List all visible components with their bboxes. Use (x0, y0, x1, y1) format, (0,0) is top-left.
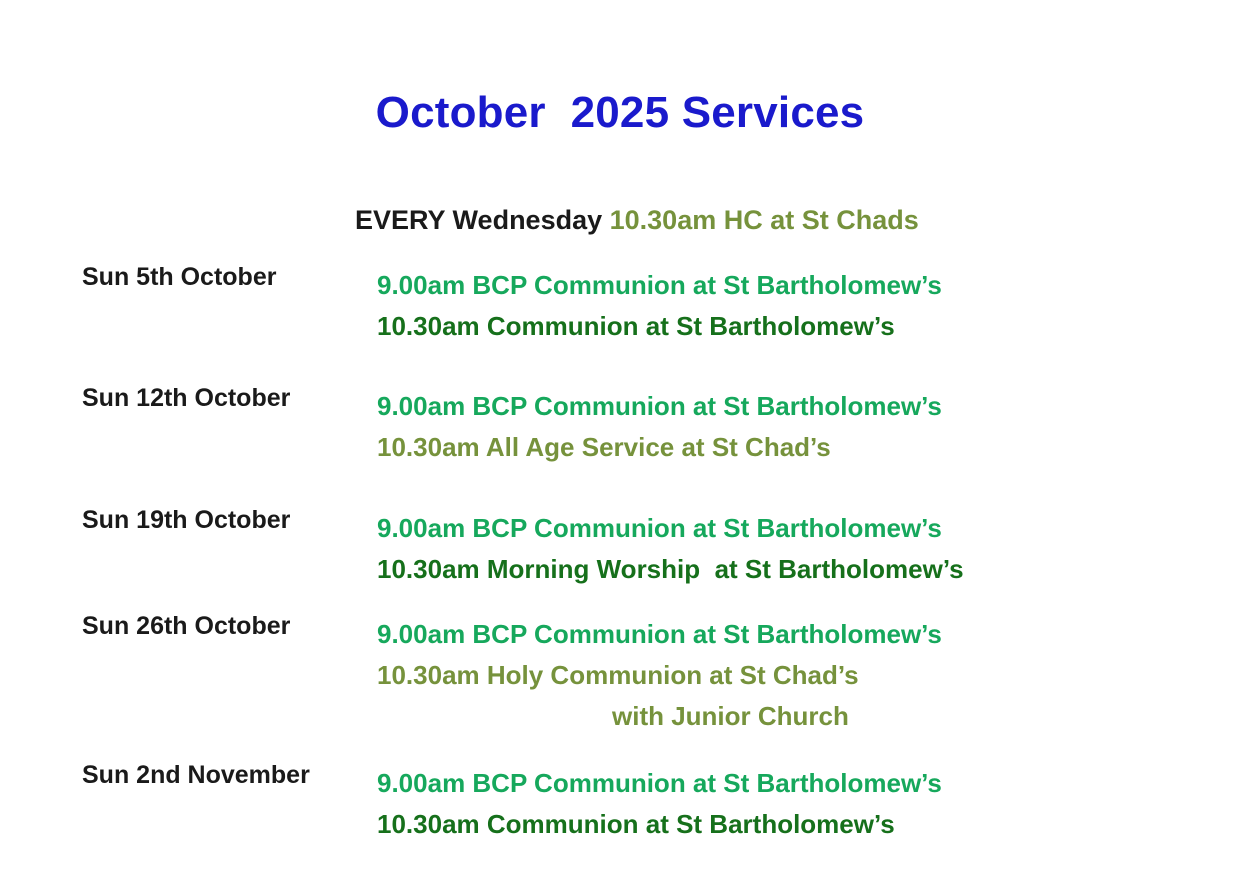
schedule-service-list: 9.00am BCP Communion at St Bartholomew’s… (377, 386, 942, 468)
schedule-service-line: 10.30am Communion at St Bartholomew’s (377, 804, 942, 845)
page-title: October 2025 Services (0, 88, 1240, 139)
schedule-date-label: Sun 26th October (82, 614, 290, 639)
recurring-day-label: EVERY Wednesday (355, 205, 610, 235)
schedule-service-line: 9.00am BCP Communion at St Bartholomew’s (377, 508, 964, 549)
recurring-service-line: EVERY Wednesday 10.30am HC at St Chads (325, 172, 919, 269)
schedule-date-label: Sun 2nd November (82, 763, 310, 788)
schedule-service-line: 9.00am BCP Communion at St Bartholomew’s (377, 614, 942, 655)
schedule-service-line: 10.30am All Age Service at St Chad’s (377, 427, 942, 468)
schedule-service-line: 9.00am BCP Communion at St Bartholomew’s (377, 763, 942, 804)
schedule-service-line: with Junior Church (377, 696, 942, 737)
schedule-service-line: 9.00am BCP Communion at St Bartholomew’s (377, 265, 942, 306)
schedule-date-label: Sun 5th October (82, 265, 276, 290)
schedule-service-list: 9.00am BCP Communion at St Bartholomew’s… (377, 265, 942, 347)
schedule-service-line: 10.30am Holy Communion at St Chad’s (377, 655, 942, 696)
schedule-service-line: 9.00am BCP Communion at St Bartholomew’s (377, 386, 942, 427)
schedule-service-list: 9.00am BCP Communion at St Bartholomew’s… (377, 763, 942, 845)
schedule-date-label: Sun 12th October (82, 386, 290, 411)
schedule-service-list: 9.00am BCP Communion at St Bartholomew’s… (377, 614, 942, 737)
schedule-service-line: 10.30am Communion at St Bartholomew’s (377, 306, 942, 347)
schedule-service-list: 9.00am BCP Communion at St Bartholomew’s… (377, 508, 964, 590)
service-schedule-page: October 2025 Services EVERY Wednesday 10… (0, 0, 1240, 880)
schedule-service-line: 10.30am Morning Worship at St Bartholome… (377, 549, 964, 590)
schedule-date-label: Sun 19th October (82, 508, 290, 533)
recurring-service-label: 10.30am HC at St Chads (610, 205, 919, 235)
